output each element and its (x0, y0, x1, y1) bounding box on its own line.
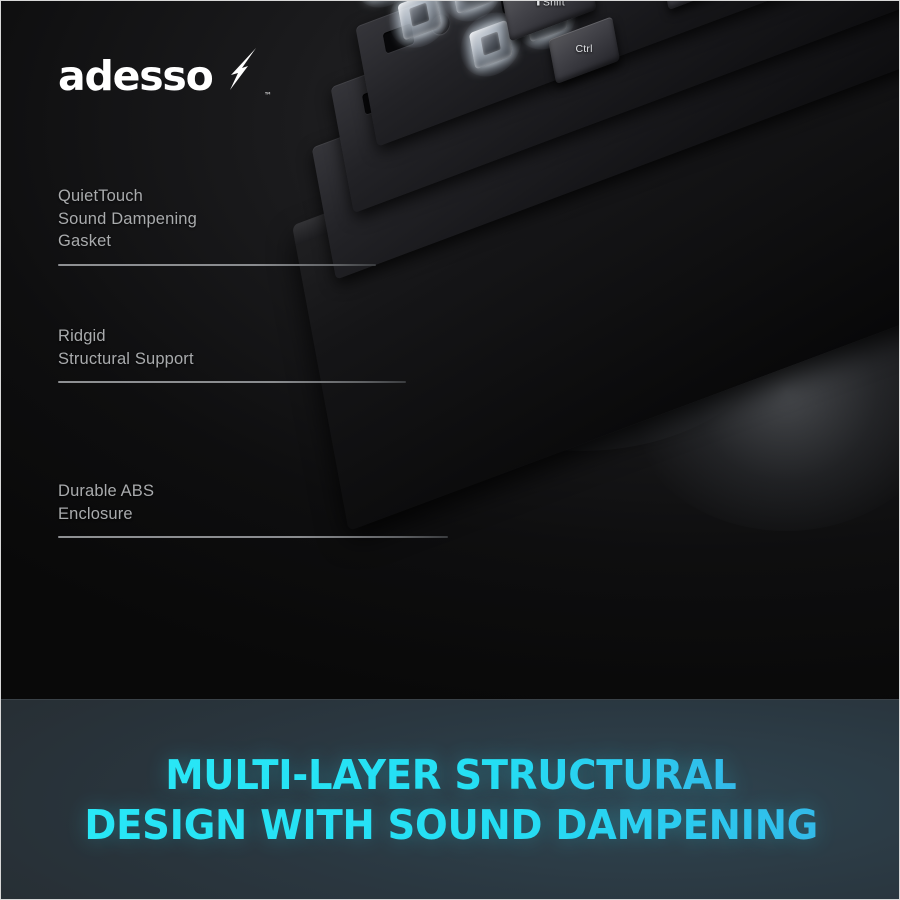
lightning-bolt-slash-icon (212, 46, 258, 96)
callout-structural-support: Ridgid Structural Support (58, 325, 406, 383)
leader-line (58, 264, 376, 266)
callout-quiettouch-gasket: QuietTouch Sound Dampening Gasket (58, 185, 376, 266)
headline-line-2: DESIGN WITH SOUND DAMPENING (84, 800, 818, 850)
callout-text: Ridgid Structural Support (58, 325, 406, 370)
trademark-symbol: ™ (264, 91, 272, 100)
headline-banner: MULTI-LAYER STRUCTURAL DESIGN WITH SOUND… (1, 699, 900, 899)
callout-text: Durable ABS Enclosure (58, 480, 448, 525)
keyboard-assembly: Esc F1 `~ 1 ! F1 2 @ F2 3 # F3 Tab Q W (187, 1, 900, 633)
headline-line-1: MULTI-LAYER STRUCTURAL (165, 750, 736, 800)
callout-abs-enclosure: Durable ABS Enclosure (58, 480, 448, 538)
product-photo: Esc F1 `~ 1 ! F1 2 @ F2 3 # F3 Tab Q W (1, 1, 900, 699)
leader-line (58, 381, 406, 383)
leader-line (58, 536, 448, 538)
callout-text: QuietTouch Sound Dampening Gasket (58, 185, 376, 253)
adesso-logo: adesso ™ (58, 48, 268, 104)
product-feature-graphic: Esc F1 `~ 1 ! F1 2 @ F2 3 # F3 Tab Q W (0, 0, 900, 900)
